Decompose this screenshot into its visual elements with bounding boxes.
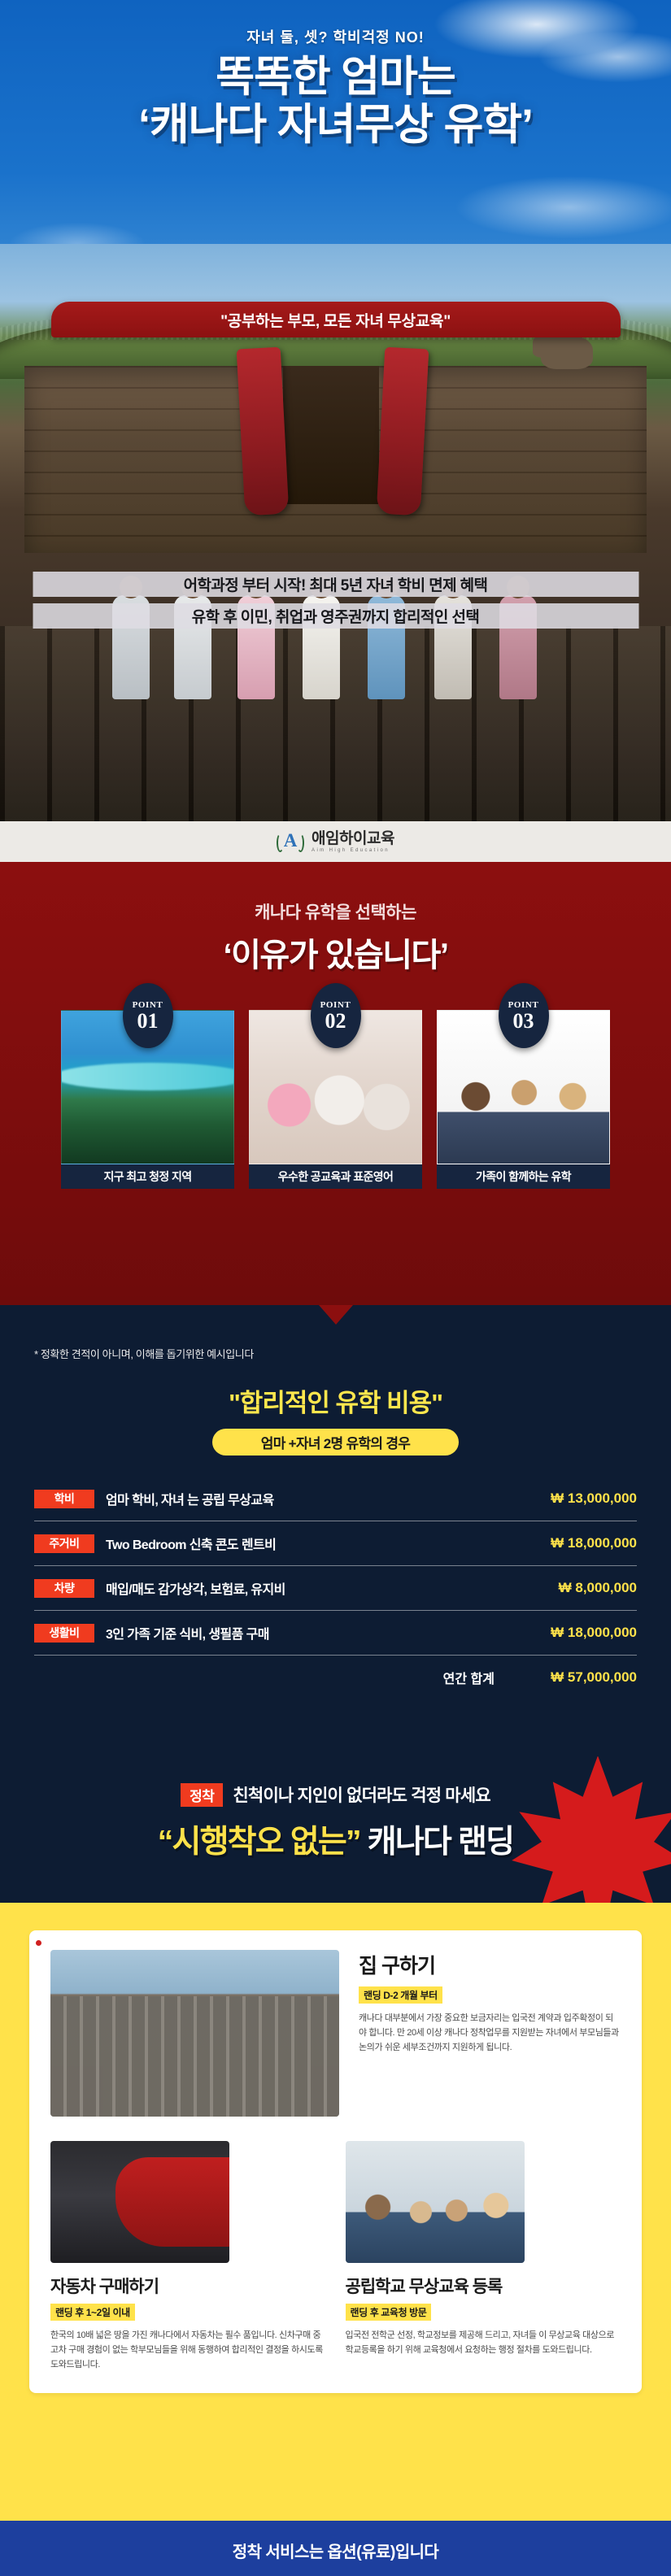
brand-name-en: Aim High Education	[312, 848, 394, 853]
school-timing: 랜딩 후 교육청 방문	[346, 2304, 432, 2321]
cost-row-amount: ₩ 8,000,000	[495, 1566, 637, 1611]
landing-tag: 정착	[181, 1783, 223, 1807]
brand-name-ko: 애임하이교육	[312, 831, 394, 846]
housing-heading: 집 구하기	[359, 1950, 621, 1979]
point-badge-number: 03	[513, 1011, 534, 1032]
cost-section: * 정확한 견적이 아니며, 이해를 돕기위한 예시입니다 "합리적인 유학 비…	[0, 1305, 671, 1756]
landing-title-highlight: “시행착오 없는”	[158, 1825, 360, 1860]
housing-body: 캐나다 대부분에서 가장 중요한 보금자리는 입국전 계약과 입주확정이 되야 …	[359, 2012, 621, 2055]
laurel-left-icon	[277, 833, 284, 852]
landing-subtitle-row: 정착 친척이나 지인이 없더라도 걱정 마세요	[0, 1782, 671, 1807]
point-badge: POINT 02	[311, 983, 361, 1048]
point-card[interactable]: POINT 01 지구 최고 청정 지역	[61, 1010, 234, 1189]
hero-title-line2: ‘캐나다 자녀무상 유학’	[0, 101, 671, 149]
laurel-a-logo-icon: A	[277, 829, 304, 855]
landing-page: 자녀 둘, 셋? 학비걱정 NO! 똑똑한 엄마는 ‘캐나다 자녀무상 유학’ …	[0, 0, 671, 2576]
landing-subtitle: 친척이나 지인이 없더라도 걱정 마세요	[233, 1782, 490, 1807]
point-badge: POINT 03	[499, 983, 549, 1048]
cabin-door	[283, 366, 379, 504]
point-caption: 가족이 함께하는 유학	[437, 1164, 610, 1189]
car-item: 자동차 구매하기 랜딩 후 1~2일 이내 한국의 10배 넓은 땅을 가진 캐…	[50, 2141, 326, 2372]
hero-title-line1: 똑똑한 엄마는	[216, 54, 455, 101]
table-total-row: 연간 합계 ₩ 57,000,000	[34, 1656, 637, 1700]
table-row: 학비 엄마 학비, 자녀 는 공립 무상교육 ₩ 13,000,000	[34, 1477, 637, 1521]
point-badge-number: 01	[137, 1011, 159, 1032]
cost-table: 학비 엄마 학비, 자녀 는 공립 무상교육 ₩ 13,000,000 주거비 …	[34, 1477, 637, 1699]
cost-row-tag-cell: 학비	[34, 1477, 106, 1521]
bullet-dot-icon	[36, 1940, 41, 1946]
service-sub-items: 자동차 구매하기 랜딩 후 1~2일 이내 한국의 10배 넓은 땅을 가진 캐…	[50, 2141, 621, 2372]
point-badge-label: POINT	[320, 1000, 351, 1010]
hero-benefit-bar-2: 유학 후 이민, 취업과 영주권까지 합리적인 선택	[33, 603, 638, 629]
table-row: 생활비 3인 가족 기준 식비, 생필품 구매 ₩ 18,000,000	[34, 1611, 637, 1656]
hero-title: 똑똑한 엄마는 ‘캐나다 자녀무상 유학’	[0, 54, 671, 150]
landing-title: “시행착오 없는” 캐나다 랜딩	[0, 1817, 671, 1862]
point-badge-label: POINT	[508, 1000, 539, 1010]
wooden-fence	[0, 626, 671, 821]
cost-row-desc: 매입/매도 감가상각, 보험료, 유지비	[106, 1566, 495, 1611]
section-arrow-icon	[319, 1305, 353, 1325]
status-badge: 생활비	[34, 1624, 94, 1643]
cost-row-tag-cell: 차량	[34, 1566, 106, 1611]
point-badge-label: POINT	[133, 1000, 163, 1010]
car-key-photo	[50, 2141, 229, 2263]
service-card-box: 집 구하기 랜딩 D-2 개월 부터 캐나다 대부분에서 가장 중요한 보금자리…	[29, 1930, 642, 2393]
point-badge-number: 02	[325, 1011, 346, 1032]
logo-letter: A	[284, 831, 298, 850]
cost-total-amount: ₩ 57,000,000	[495, 1656, 637, 1700]
cost-total-label: 연간 합계	[106, 1656, 495, 1700]
cost-title: "합리적인 유학 비용"	[34, 1382, 637, 1419]
cta-banner[interactable]: 정착 서비스는 옵션(유료)입니다	[0, 2521, 671, 2576]
point-card[interactable]: POINT 02 우수한 공교육과 표준영어	[249, 1010, 422, 1189]
total-spacer	[34, 1656, 106, 1700]
cost-row-amount: ₩ 13,000,000	[495, 1477, 637, 1521]
car-heading: 자동차 구매하기	[50, 2274, 326, 2298]
family-school-photo	[346, 2141, 525, 2263]
points-subtitle: 캐나다 유학을 선택하는	[0, 899, 671, 924]
cost-scenario-pill: 엄마 +자녀 2명 유학의 경우	[212, 1429, 459, 1456]
cost-row-desc: 3인 가족 기준 식비, 생필품 구매	[106, 1611, 495, 1656]
point-caption: 우수한 공교육과 표준영어	[249, 1164, 422, 1189]
cost-row-desc: Two Bedroom 신축 콘도 렌트비	[106, 1521, 495, 1566]
point-card[interactable]: POINT 03 가족이 함께하는 유학	[437, 1010, 610, 1189]
cost-row-tag-cell: 주거비	[34, 1521, 106, 1566]
landing-title-rest: 캐나다 랜딩	[360, 1825, 513, 1860]
red-curtain-left	[237, 347, 290, 516]
housing-photo	[50, 1950, 339, 2117]
points-title: ‘이유가 있습니다’	[0, 929, 671, 976]
point-badge: POINT 01	[123, 983, 173, 1048]
hero-ribbon: "공부하는 부모, 모든 자녀 무상교육"	[51, 302, 621, 337]
table-row: 차량 매입/매도 감가상각, 보험료, 유지비 ₩ 8,000,000	[34, 1566, 637, 1611]
cost-row-tag-cell: 생활비	[34, 1611, 106, 1656]
laurel-right-icon	[297, 833, 304, 852]
landing-section: 정착 친척이나 지인이 없더라도 걱정 마세요 “시행착오 없는” 캐나다 랜딩	[0, 1756, 671, 1903]
points-card-list: POINT 01 지구 최고 청정 지역 POINT 02 우수한 공교육과 표…	[0, 1010, 671, 1189]
status-badge: 학비	[34, 1490, 94, 1508]
brand-logo-strip: A 애임하이교육 Aim High Education	[0, 821, 671, 862]
red-curtain-right	[377, 347, 429, 516]
cost-row-amount: ₩ 18,000,000	[495, 1521, 637, 1566]
brand-name-block: 애임하이교육 Aim High Education	[312, 831, 394, 853]
school-body: 입국전 전학군 선정, 학교정보를 제공해 드리고, 자녀들 이 무상교육 대상…	[346, 2329, 621, 2358]
housing-timing: 랜딩 D-2 개월 부터	[359, 1986, 442, 2004]
cta-label: 정착 서비스는 옵션(유료)입니다	[233, 2539, 438, 2562]
service-section: 집 구하기 랜딩 D-2 개월 부터 캐나다 대부분에서 가장 중요한 보금자리…	[0, 1903, 671, 2521]
service-main-item: 집 구하기 랜딩 D-2 개월 부터 캐나다 대부분에서 가장 중요한 보금자리…	[50, 1950, 621, 2117]
points-section: 캐나다 유학을 선택하는 ‘이유가 있습니다’ POINT 01 지구 최고 청…	[0, 862, 671, 1305]
cost-row-desc: 엄마 학비, 자녀 는 공립 무상교육	[106, 1477, 495, 1521]
table-row: 주거비 Two Bedroom 신축 콘도 렌트비 ₩ 18,000,000	[34, 1521, 637, 1566]
housing-text-block: 집 구하기 랜딩 D-2 개월 부터 캐나다 대부분에서 가장 중요한 보금자리…	[359, 1950, 621, 2117]
school-item: 공립학교 무상교육 등록 랜딩 후 교육청 방문 입국전 전학군 선정, 학교정…	[346, 2141, 621, 2372]
cost-row-amount: ₩ 18,000,000	[495, 1611, 637, 1656]
hero-kicker: 자녀 둘, 셋? 학비걱정 NO!	[0, 26, 671, 47]
status-badge: 주거비	[34, 1534, 94, 1553]
hero-benefit-bar-1: 어학과정 부터 시작! 최대 5년 자녀 학비 면제 혜택	[33, 572, 638, 597]
hero-section: 자녀 둘, 셋? 학비걱정 NO! 똑똑한 엄마는 ‘캐나다 자녀무상 유학’ …	[0, 0, 671, 821]
car-timing: 랜딩 후 1~2일 이내	[50, 2304, 135, 2321]
point-caption: 지구 최고 청정 지역	[61, 1164, 234, 1189]
car-body: 한국의 10배 넓은 땅을 가진 캐나다에서 자동차는 필수 품입니다. 신차구…	[50, 2329, 326, 2372]
school-heading: 공립학교 무상교육 등록	[346, 2274, 621, 2298]
bear-figure	[541, 335, 593, 369]
status-badge: 차량	[34, 1579, 94, 1598]
